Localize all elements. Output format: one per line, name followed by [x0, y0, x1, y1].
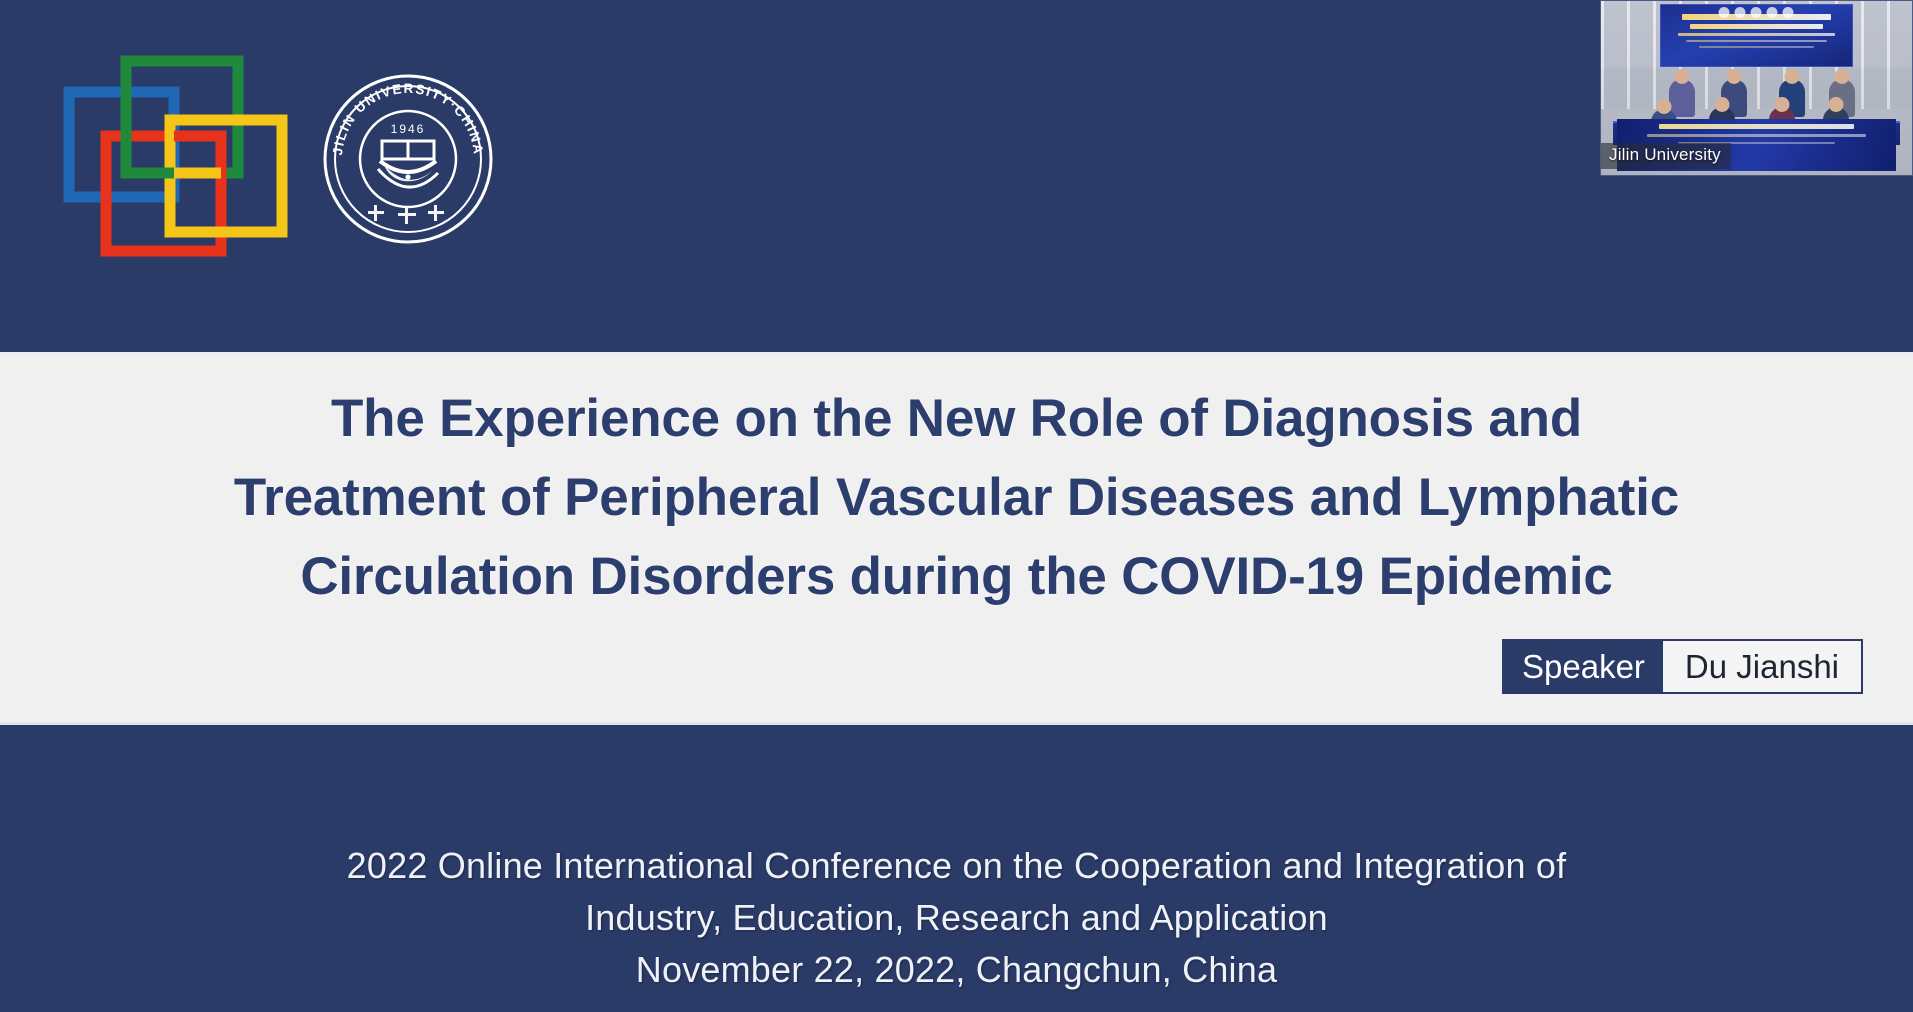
presentation-slide: JILIN UNIVERSITY·CHINA 1946	[0, 0, 1913, 1012]
speaker-badge: Speaker Du Jianshi	[1502, 639, 1863, 694]
logo-row: JILIN UNIVERSITY·CHINA 1946	[60, 52, 494, 266]
conference-info: 2022 Online International Conference on …	[0, 840, 1913, 996]
title-line-2: Treatment of Peripheral Vascular Disease…	[60, 458, 1853, 537]
video-feed-icon[interactable]: Jilin University	[1600, 0, 1913, 176]
speaker-name: Du Jianshi	[1663, 641, 1861, 692]
title-line-1: The Experience on the New Role of Diagno…	[60, 379, 1853, 458]
speaker-label: Speaker	[1504, 641, 1663, 692]
svg-text:1946: 1946	[391, 122, 426, 136]
title-band: The Experience on the New Role of Diagno…	[0, 352, 1913, 725]
conference-line-1: 2022 Online International Conference on …	[0, 840, 1913, 892]
four-interlocking-squares-icon	[60, 52, 292, 266]
video-participant-label: Jilin University	[1601, 143, 1731, 169]
jilin-university-seal-icon: JILIN UNIVERSITY·CHINA 1946	[322, 73, 494, 245]
header-band: JILIN UNIVERSITY·CHINA 1946	[0, 0, 1913, 352]
title-line-3: Circulation Disorders during the COVID-1…	[60, 537, 1853, 616]
conference-line-3: November 22, 2022, Changchun, China	[0, 944, 1913, 996]
page-title: The Experience on the New Role of Diagno…	[0, 379, 1913, 616]
footer-band: 2022 Online International Conference on …	[0, 725, 1913, 1012]
conference-line-2: Industry, Education, Research and Applic…	[0, 892, 1913, 944]
